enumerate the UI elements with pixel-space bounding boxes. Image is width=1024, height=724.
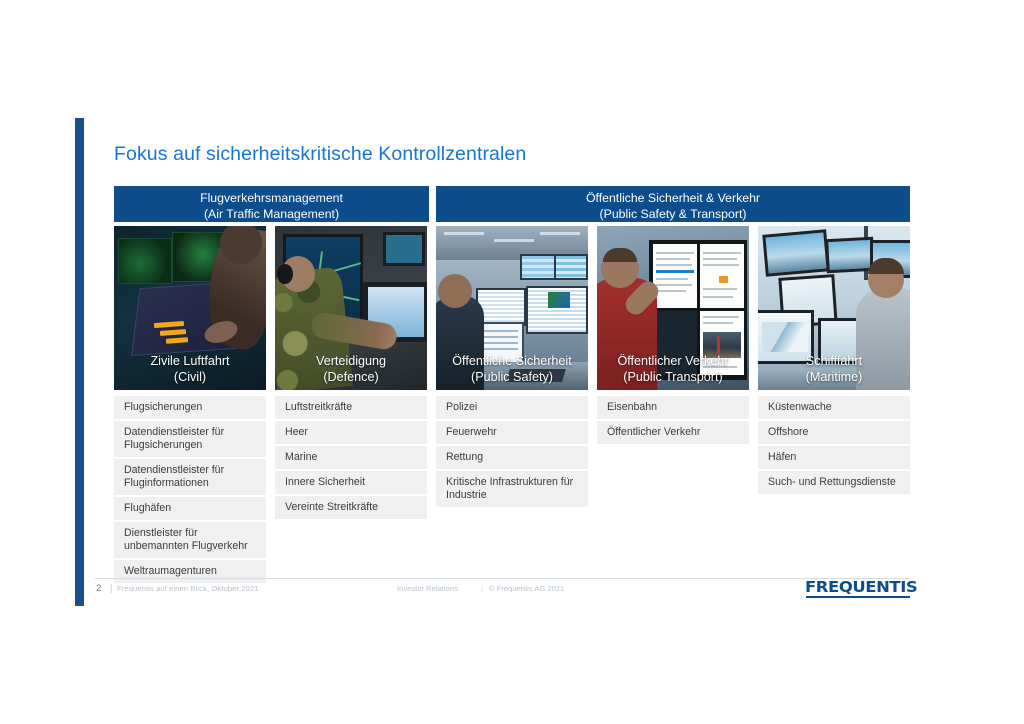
column-maritime: Schifffahrt (Maritime) Küstenwache Offsh… <box>758 226 910 494</box>
footer-middle-separator: | <box>481 584 483 593</box>
list-item[interactable]: Such- und Rettungsdienste <box>758 471 910 494</box>
page-number: 2 <box>96 583 101 594</box>
photo-caption-maritime: Schifffahrt (Maritime) <box>758 354 910 385</box>
footer-investor-relations: Investor Relations <box>397 584 458 593</box>
photo-caption-public-safety: Öffentliche Sicherheit (Public Safety) <box>436 354 588 385</box>
caption-en: (Defence) <box>275 370 427 386</box>
list-item[interactable]: Kritische Infrastrukturen für Industrie <box>436 471 588 507</box>
photo-tile-public-safety: Öffentliche Sicherheit (Public Safety) <box>436 226 588 390</box>
list-item[interactable]: Luftstreitkräfte <box>275 396 427 421</box>
list-item[interactable]: Datendienstleister für Fluginformationen <box>114 459 266 497</box>
footer-divider <box>95 578 909 579</box>
list-item[interactable]: Polizei <box>436 396 588 421</box>
column-defence: Verteidigung (Defence) Luftstreitkräfte … <box>275 226 427 519</box>
photo-tile-maritime: Schifffahrt (Maritime) <box>758 226 910 390</box>
photo-tile-civil: Zivile Luftfahrt (Civil) <box>114 226 266 390</box>
caption-en: (Public Safety) <box>436 370 588 386</box>
group-title-de: Öffentliche Sicherheit & Verkehr <box>586 191 760 205</box>
caption-de: Schifffahrt <box>806 354 862 368</box>
caption-en: (Public Transport) <box>597 370 749 386</box>
photo-caption-public-transport: Öffentlicher Verkehr (Public Transport) <box>597 354 749 385</box>
list-maritime: Küstenwache Offshore Häfen Such- und Ret… <box>758 396 910 494</box>
list-item[interactable]: Eisenbahn <box>597 396 749 421</box>
photo-caption-defence: Verteidigung (Defence) <box>275 354 427 385</box>
frequentis-logo-underline <box>806 596 910 598</box>
list-item[interactable]: Dienstleister für unbemannten Flugverkeh… <box>114 522 266 560</box>
column-civil: Zivile Luftfahrt (Civil) Flugsicherungen… <box>114 226 266 583</box>
list-item[interactable]: Innere Sicherheit <box>275 471 427 496</box>
group-header-public-safety-transport: Öffentliche Sicherheit & Verkehr (Public… <box>436 186 910 222</box>
column-public-safety: Öffentliche Sicherheit (Public Safety) P… <box>436 226 588 507</box>
footer-left-text: Frequentis auf einen Blick, Oktober 2021 <box>117 584 259 593</box>
list-civil: Flugsicherungen Datendienstleister für F… <box>114 396 266 583</box>
list-item[interactable]: Offshore <box>758 421 910 446</box>
photo-caption-civil: Zivile Luftfahrt (Civil) <box>114 354 266 385</box>
footer-copyright: © Frequentis AG 2021 <box>489 584 564 593</box>
photo-tile-public-transport: Öffentlicher Verkehr (Public Transport) <box>597 226 749 390</box>
list-item[interactable]: Vereinte Streitkräfte <box>275 496 427 519</box>
caption-de: Zivile Luftfahrt <box>150 354 229 368</box>
list-item[interactable]: Heer <box>275 421 427 446</box>
list-item[interactable]: Öffentlicher Verkehr <box>597 421 749 444</box>
photo-tile-defence: Verteidigung (Defence) <box>275 226 427 390</box>
list-item[interactable]: Weltraumagenturen <box>114 560 266 583</box>
list-public-safety: Polizei Feuerwehr Rettung Kritische Infr… <box>436 396 588 507</box>
list-defence: Luftstreitkräfte Heer Marine Innere Sich… <box>275 396 427 519</box>
slide-canvas: Fokus auf sicherheitskritische Kontrollz… <box>0 0 1024 724</box>
list-item[interactable]: Rettung <box>436 446 588 471</box>
list-item[interactable]: Feuerwehr <box>436 421 588 446</box>
list-item[interactable]: Flughäfen <box>114 497 266 522</box>
list-public-transport: Eisenbahn Öffentlicher Verkehr <box>597 396 749 444</box>
left-accent-bar <box>75 118 84 606</box>
caption-en: (Maritime) <box>758 370 910 386</box>
group-header-air-traffic-management: Flugverkehrsmanagement (Air Traffic Mana… <box>114 186 429 222</box>
group-title-de: Flugverkehrsmanagement <box>200 191 343 205</box>
list-item[interactable]: Marine <box>275 446 427 471</box>
caption-en: (Civil) <box>114 370 266 386</box>
page-title: Fokus auf sicherheitskritische Kontrollz… <box>114 143 526 166</box>
frequentis-logo: FREQUENTIS <box>805 578 917 596</box>
caption-de: Verteidigung <box>316 354 386 368</box>
list-item[interactable]: Küstenwache <box>758 396 910 421</box>
group-title-en: (Public Safety & Transport) <box>436 207 910 223</box>
list-item[interactable]: Flugsicherungen <box>114 396 266 421</box>
list-item[interactable]: Häfen <box>758 446 910 471</box>
caption-de: Öffentliche Sicherheit <box>452 354 571 368</box>
caption-de: Öffentlicher Verkehr <box>617 354 728 368</box>
footer-separator: | <box>110 583 112 594</box>
group-title-en: (Air Traffic Management) <box>114 207 429 223</box>
column-public-transport: Öffentlicher Verkehr (Public Transport) … <box>597 226 749 444</box>
list-item[interactable]: Datendienstleister für Flugsicherungen <box>114 421 266 459</box>
